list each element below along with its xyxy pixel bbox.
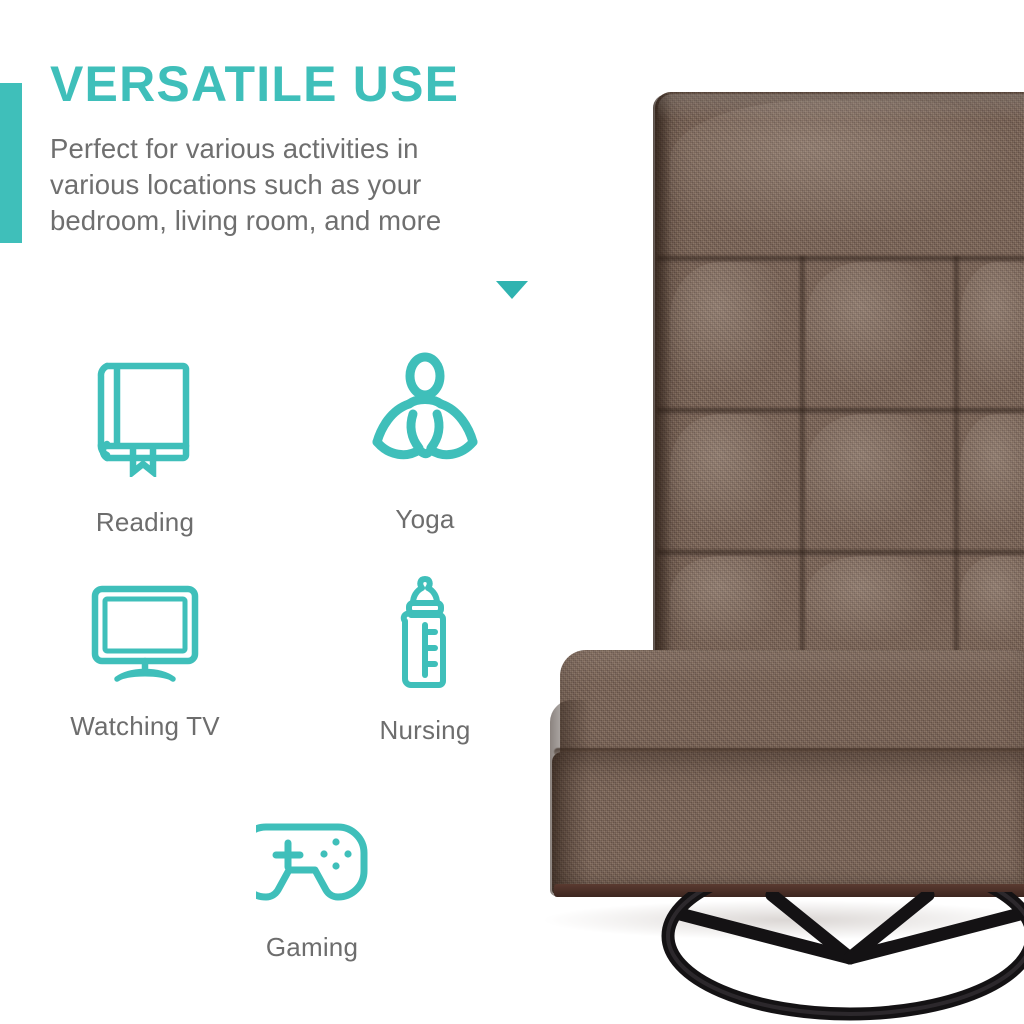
feature-item-nursing[interactable]: Nursing xyxy=(325,575,525,746)
feature-item-watching-tv[interactable]: Watching TV xyxy=(45,585,245,742)
feature-item-reading[interactable]: Reading xyxy=(45,352,245,538)
rocker-base xyxy=(650,892,1024,1024)
tuft-seam-h2 xyxy=(657,406,1024,415)
feature-label-nursing: Nursing xyxy=(325,715,525,746)
chair-seat-front-panel xyxy=(552,752,1024,894)
accent-bar xyxy=(0,83,22,243)
tuft-seam-v2 xyxy=(952,256,961,652)
subtitle-line-2: various locations such as your xyxy=(50,167,530,203)
product-image-chair xyxy=(500,0,1024,1024)
chair-backrest xyxy=(655,92,1024,692)
feature-label-watching-tv: Watching TV xyxy=(45,711,245,742)
page-subtitle: Perfect for various activities in variou… xyxy=(50,131,530,238)
feature-item-yoga[interactable]: Yoga xyxy=(325,352,525,535)
subtitle-line-1: Perfect for various activities in xyxy=(50,131,530,167)
page-title: VERSATILE USE xyxy=(50,58,459,111)
feature-item-gaming[interactable]: Gaming xyxy=(212,822,412,963)
game-controller-icon xyxy=(256,822,368,904)
backrest-left-shading xyxy=(653,94,671,692)
feature-label-yoga: Yoga xyxy=(325,504,525,535)
television-icon xyxy=(91,585,199,685)
book-icon xyxy=(95,352,195,477)
seat-left-shading xyxy=(550,700,590,896)
feature-label-gaming: Gaming xyxy=(212,932,412,963)
lotus-pose-icon xyxy=(369,352,481,474)
marketing-image-canvas: VERSATILE USE Perfect for various activi… xyxy=(0,0,1024,1024)
tuft-seam-h1 xyxy=(657,254,1024,263)
baby-bottle-icon xyxy=(397,575,453,693)
tuft-seam-h3 xyxy=(657,548,1024,557)
subtitle-line-3: bedroom, living room, and more xyxy=(50,203,530,239)
backrest-top-highlight xyxy=(658,94,1024,120)
feature-label-reading: Reading xyxy=(45,507,245,538)
tuft-seam-v1 xyxy=(798,256,807,652)
